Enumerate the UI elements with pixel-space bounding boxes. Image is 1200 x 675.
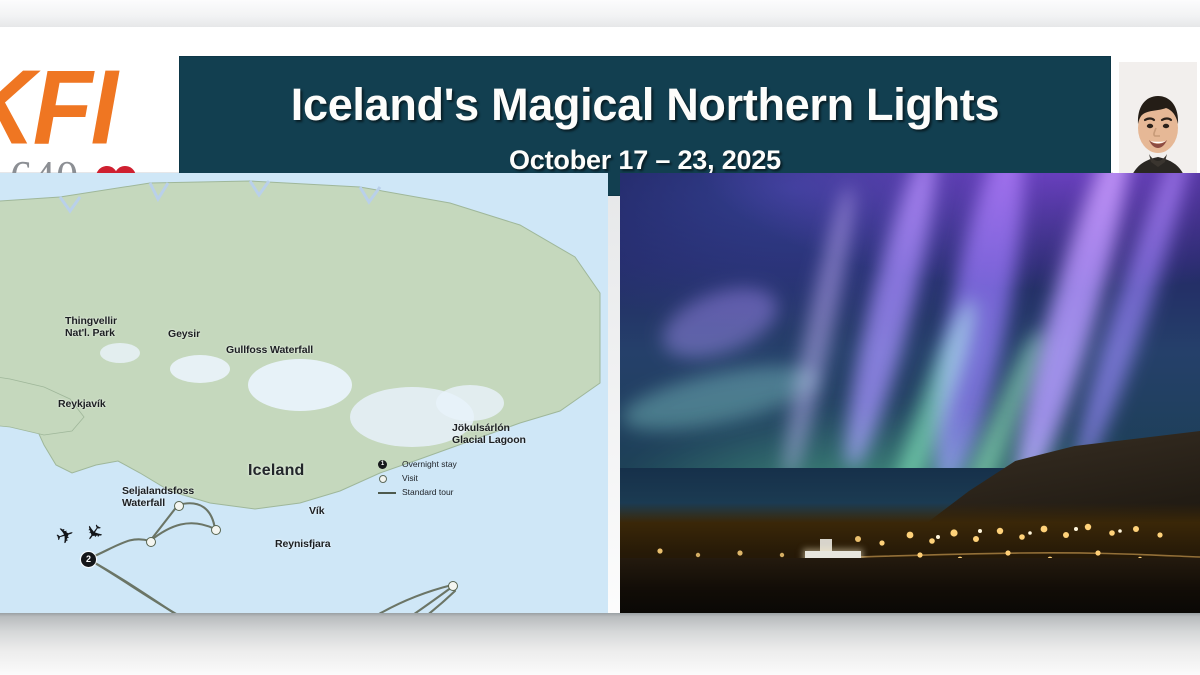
foreground-land (620, 558, 1200, 613)
map-label-jokulsarlon: Jökulsárlón Glacial Lagoon (452, 423, 526, 446)
kfi-call-letters: KFI (0, 55, 116, 159)
map-label-reykjavik: Reykjavík (58, 399, 106, 411)
visit-open-circle-icon (379, 475, 387, 483)
map-label-thingvellir: Thingvellir Nat'l. Park (65, 316, 117, 339)
legend-label-tour: Standard tour (402, 487, 454, 498)
slide-canvas: KFI M 640 Iceland's Magical Northern Lig… (0, 0, 1200, 675)
northern-lights-photo (620, 173, 1200, 613)
map-country-label: Iceland (248, 462, 305, 480)
page-title: Iceland's Magical Northern Lights (180, 79, 1110, 131)
standard-tour-line-icon (378, 492, 396, 494)
map-label-seljalandsfoss: Seljalandsfoss Waterfall (122, 486, 194, 509)
header-band: KFI M 640 Iceland's Magical Northern Lig… (0, 27, 1200, 172)
map-marker-visit-jokulsarlon[interactable] (448, 581, 458, 591)
map-marker-overnight-reykjavik[interactable]: 2 (81, 552, 96, 567)
map-marker-visit-geysir[interactable] (211, 525, 221, 535)
map-marker-visit-junction[interactable] (146, 537, 156, 547)
map-label-reynisfjara: Reynisfjara (275, 539, 331, 551)
legend-label-visit: Visit (402, 473, 418, 484)
page-backdrop-bottom (0, 613, 1200, 675)
iceland-tour-map: 2 3 ✈ ✈ Iceland Atlantic Ocean Thingvell… (0, 173, 608, 613)
map-label-vik: Vík (309, 506, 324, 518)
map-label-geysir: Geysir (168, 329, 200, 341)
overnight-stay-marker-icon: 1 (378, 460, 387, 469)
map-label-gullfoss: Gullfoss Waterfall (226, 345, 313, 357)
tour-dates: October 17 – 23, 2025 (180, 145, 1110, 176)
legend-label-overnight: Overnight stay (402, 459, 457, 470)
page-backdrop-top (0, 0, 1200, 27)
